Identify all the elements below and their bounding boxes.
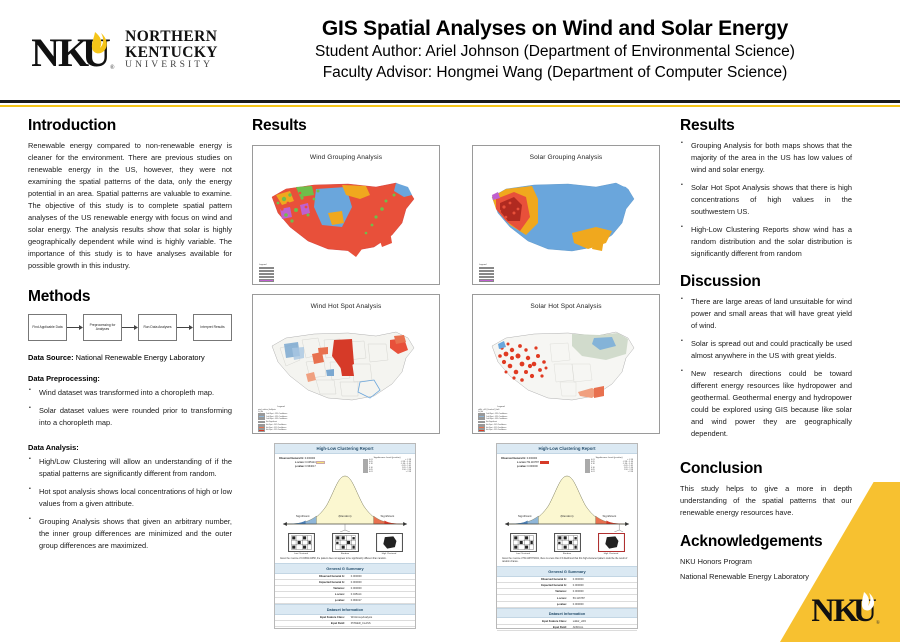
report-summary-table: Observed General G:0.000000 Expected Gen… [275,574,415,605]
introduction-heading: Introduction [28,117,232,135]
svg-text:N: N [32,30,60,73]
row-key: Input Field: [275,621,348,627]
report-dataset-table: Input Feature Class:solEtr_ul03 Input Fi… [497,618,637,630]
right-column: Results Grouping Analysis for both maps … [666,117,852,638]
row-key: p-value: [497,601,570,607]
stat-value: 0.000000 [527,457,537,460]
map-legend-solar-hotspot: Legend solEtr_ul03_Dissolve2_HotS Gi_Bin… [478,406,524,432]
thumbnail-high-clustered [598,533,625,552]
report-body: Observed General G: 0.000000 z-score: 59… [497,454,637,564]
report-note: Given the z-score of 59.1167871941, ther… [501,558,633,565]
stat-value: 0.964017 [305,465,315,468]
list-item: Wind dataset was transformed into a chor… [28,387,232,399]
row-key: Input Field: [497,624,570,630]
list-item: New research directions could be toward … [680,368,852,440]
list-item: Grouping Analysis shows that given an ar… [28,516,232,552]
nku-word-line2: KENTUCKY [125,45,218,61]
thumbnail-random [554,533,581,552]
corner-nku-logo: N K U ® [812,590,884,626]
table-row: p-value:0.000000 [497,601,637,607]
row-value: 0.964017 [348,598,415,604]
table-row: Input Field:ANNUAL [497,624,637,630]
legend-label: Cold Spot - 99% Confidence [266,413,287,415]
flow-step-preprocessing: Preprocessing for Analyses [83,314,122,341]
zscore-marker-swatch [316,461,325,463]
data-source-line: Data Source: National Renewable Energy L… [28,353,232,362]
figure-wind-grouping: Wind Grouping Analysis [252,145,440,285]
center-results-heading: Results [252,117,660,135]
thumbnail-random [332,533,359,552]
nku-logo: N K U ® NORTHERN KENTUCKY UNIVERSITY [32,29,218,71]
map-solar-hotspot [476,312,656,420]
thumbnail-label: Low Clustered [288,553,315,555]
flow-arrow-icon [67,322,83,332]
figure-title: Wind Hot Spot Analysis [256,298,436,312]
flow-step-run-analyses: Run Data Analyses [138,314,177,341]
figure-row-grouping: Wind Grouping Analysis [252,145,660,285]
stat-label: Observed General G: [501,457,526,460]
list-item: High-Low Clustering Reports show wind ha… [680,224,852,260]
flow-arrow-icon [177,322,193,332]
stat-label: p-value: [517,465,527,468]
table-row: p-value:0.964017 [275,598,415,604]
stat-value: 0.000000 [305,457,315,460]
thumbnail-low-clustered [510,533,537,552]
report-thumbnails [501,533,633,552]
stat-label: Observed General G: [279,457,304,460]
acknowledgement-item: NKU Honors Program [680,556,852,569]
legend-label: Hot Spot - 90% Confidence [266,424,286,426]
report-solar-high-low-clustering: High-Low Clustering Report Observed Gene… [496,443,638,629]
figure-row-hotspot: Wind Hot Spot Analysis [252,294,660,434]
nku-monogram-icon: N K U ® [32,29,118,71]
report-bell-curve-wind: Significant (Random) Significant [279,470,411,532]
list-item: Hot spot analysis shows local concentrat… [28,486,232,510]
svg-text:®: ® [110,64,115,71]
figure-row-reports: High-Low Clustering Report Observed Gene… [252,443,660,629]
list-item: Grouping Analysis for both maps shows th… [680,140,852,176]
poster-header: N K U ® NORTHERN KENTUCKY UNIVERSITY GIS… [0,0,900,100]
legend-label: Not Significant [266,421,277,423]
legend-label: Cold Spot - 99% Confidence [486,413,507,415]
discussion-heading: Discussion [680,273,852,291]
svg-text:N: N [812,593,835,626]
conclusion-heading: Conclusion [680,460,852,478]
stat-label: p-value: [295,465,305,468]
report-thumbnail-labels: Low Clustered Random High Clustered [279,552,411,555]
map-legend-solar-grouping: Legend [479,264,504,282]
svg-text:Significant: Significant [518,514,532,518]
thumbnail-label: Random [554,553,581,555]
thumbnail-label: High Clustered [598,553,625,555]
list-item: There are large areas of land unsuitable… [680,296,852,332]
title-block: GIS Spatial Analyses on Wind and Solar E… [250,16,900,84]
report-dataset-heading: Dataset Information [497,608,637,619]
legend-swatch [479,279,494,282]
legend-label: Cold Spot - 90% Confidence [486,418,507,420]
flow-step-interpret-results: Interpret Results [193,314,232,341]
data-analysis-list: High/Low Clustering will allow an unders… [28,456,232,552]
page-title: GIS Spatial Analyses on Wind and Solar E… [250,16,860,42]
row-value: ANNUAL [570,624,637,630]
svg-text:(Random): (Random) [338,514,351,518]
discussion-list: There are large areas of land unsuitable… [680,296,852,440]
methods-heading: Methods [28,288,232,306]
stat-value: 59.116787 [527,461,539,464]
legend-row: Hot Spot - 99% Confidence [478,429,524,431]
report-title: High-Low Clustering Report [275,444,415,454]
thumbnail-label: Low Clustered [510,553,537,555]
list-item: Solar Hot Spot Analysis shows that there… [680,182,852,218]
nku-word-line1: NORTHERN [125,29,218,45]
report-bell-curve-solar: Significant (Random) Significant [501,470,633,532]
figure-solar-grouping: Solar Grouping Analysis [472,145,660,285]
row-key: p-value: [275,598,348,604]
figure-wind-hotspot: Wind Hot Spot Analysis [252,294,440,434]
flow-step-find-data: Find Applicable Data [28,314,67,341]
svg-text:®: ® [876,620,880,626]
flow-arrow-icon [122,322,138,332]
map-wind-hotspot [256,312,436,420]
data-source-label: Data Source: [28,353,74,362]
svg-text:Significant: Significant [296,514,310,518]
acknowledgement-item: National Renewable Energy Laboratory [680,571,852,584]
report-thumbnails [279,533,411,552]
svg-text:Significant: Significant [381,514,395,518]
svg-text:Significant: Significant [603,514,617,518]
conclusion-text: This study helps to give a more in depth… [680,483,852,519]
thumbnail-high-clustered [376,533,403,552]
list-item: Solar is spread out and could practicall… [680,338,852,362]
stat-value: 0.000000 [527,465,537,468]
report-dataset-heading: Dataset Information [275,604,415,615]
report-summary-table: Observed General G:0.000000 Expected Gen… [497,577,637,608]
legend-label: Hot Spot - 99% Confidence [486,429,506,431]
acknowledgements-heading: Acknowledgements [680,533,852,551]
legend-label: Cold Spot - 90% Confidence [266,418,287,420]
methods-flowchart: Find Applicable Data Preprocessing for A… [28,314,232,341]
table-row: Input Field:POWER_CLASS [275,621,415,627]
figure-title: Wind Grouping Analysis [256,149,436,163]
report-dataset-table: Input Feature Class:WinGroupAnalysis Inp… [275,615,415,627]
map-legend-wind-grouping: Legend [259,264,284,282]
data-source-value: National Renewable Energy Laboratory [76,353,205,362]
legend-swatch [259,279,274,282]
stat-value: 0.045114 [305,461,315,464]
left-column: Introduction Renewable energy compared t… [28,117,246,638]
introduction-text: Renewable energy compared to non-renewab… [28,140,232,272]
logo-container: N K U ® NORTHERN KENTUCKY UNIVERSITY [0,29,250,71]
figure-title: Solar Hot Spot Analysis [476,298,656,312]
stat-label: z-score: [517,461,527,464]
poster-body: Introduction Renewable energy compared t… [0,107,900,638]
faculty-advisor-line: Faculty Advisor: Hongmei Wang (Departmen… [250,63,860,84]
thumbnail-label: High Clustered [376,553,403,555]
center-column: Results Wind Grouping Analysis [246,117,666,638]
data-preprocessing-label: Data Preprocessing: [28,374,232,383]
row-value: POWER_CLASS [348,621,415,627]
legend-label: Not Significant [486,421,497,423]
report-note: Given the z-score of 0.0451141358, the p… [279,558,411,561]
report-summary-heading: General G Summary [497,566,637,577]
nku-word-line3: UNIVERSITY [125,61,218,71]
report-title: High-Low Clustering Report [497,444,637,454]
student-author-line: Student Author: Ariel Johnson (Departmen… [250,42,860,63]
report-wind-high-low-clustering: High-Low Clustering Report Observed Gene… [274,443,416,629]
poster-canvas: N K U ® NORTHERN KENTUCKY UNIVERSITY GIS… [0,0,900,642]
legend-row: Hot Spot - 99% Confidence [258,429,304,431]
figure-title: Solar Grouping Analysis [476,149,656,163]
legend-label: Hot Spot - 90% Confidence [486,424,506,426]
map-legend-wind-hotspot: Legend wind_relative_HotSpots Gi_Bin Col… [258,406,304,432]
nku-wordmark: NORTHERN KENTUCKY UNIVERSITY [125,29,218,71]
report-thumbnail-labels: Low Clustered Random High Clustered [501,552,633,555]
list-item: High/Low Clustering will allow an unders… [28,456,232,480]
zscore-marker-swatch [540,461,549,463]
report-summary-heading: General G Summary [275,563,415,574]
map-wind-grouping [256,163,436,271]
svg-text:(Random): (Random) [560,514,573,518]
report-body: Observed General G: 0.000000 z-score: 0.… [275,454,415,561]
thumbnail-low-clustered [288,533,315,552]
map-solar-grouping [476,163,656,271]
list-item: Solar dataset values were rounded prior … [28,405,232,429]
data-preprocessing-list: Wind dataset was transformed into a chor… [28,387,232,429]
row-value: 0.000000 [570,601,637,607]
thumbnail-label: Random [332,553,359,555]
right-results-heading: Results [680,117,852,135]
legend-label: Hot Spot - 99% Confidence [266,429,286,431]
stat-label: z-score: [295,461,305,464]
results-list: Grouping Analysis for both maps shows th… [680,140,852,260]
data-analysis-label: Data Analysis: [28,443,232,452]
figure-solar-hotspot: Solar Hot Spot Analysis [472,294,660,434]
